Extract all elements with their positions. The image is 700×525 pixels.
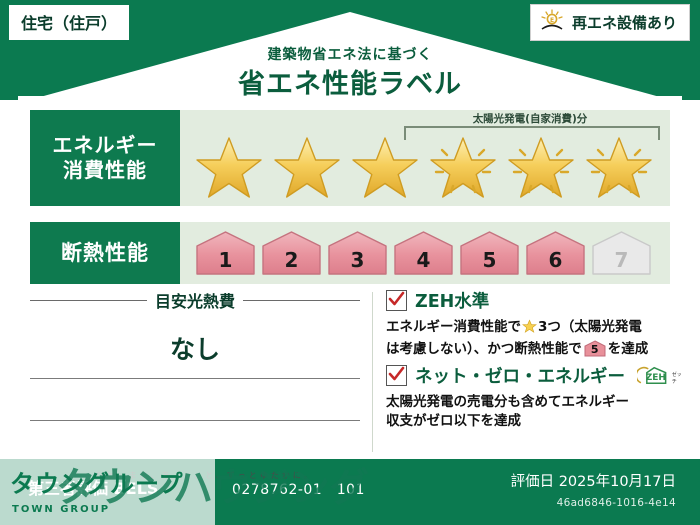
svg-text:ZEH: ZEH bbox=[646, 373, 666, 383]
heading-rule-right bbox=[243, 300, 360, 301]
third-party-evaluation: 第三者評価 BELS bbox=[28, 475, 158, 499]
insulation-level-badge: 1 bbox=[194, 230, 257, 276]
net-zero-description: 太陽光発電の売電分も含めてエネルギー 収支がゼロ以下を達成 bbox=[386, 393, 682, 431]
insulation-level-badge: 7 bbox=[590, 230, 653, 276]
net-zero-title: ネット・ゼロ・エネルギー bbox=[415, 363, 625, 388]
net-zero-desc-2: 収支がゼロ以下を達成 bbox=[386, 413, 521, 429]
star-icon-solar bbox=[504, 130, 578, 200]
insulation-level-value: 1 bbox=[194, 248, 257, 272]
evaluation-date-value: 2025年10月17日 bbox=[559, 474, 676, 490]
insulation-level-badge: 3 bbox=[326, 230, 389, 276]
insulation-level-value: 3 bbox=[326, 248, 389, 272]
house-type-tag: 住宅（住戸） bbox=[8, 4, 130, 41]
solar-bracket-label: 太陽光発電(自家消費)分 bbox=[380, 111, 680, 126]
net-zero-energy-block: ネット・ゼロ・エネルギー ZEH ゼッチ 太陽光発電の売電分も含めてエネルギー … bbox=[386, 363, 682, 431]
insulation-performance-row: 断熱性能 1234567 bbox=[30, 222, 670, 284]
evaluation-code: 0278762-01 101 bbox=[232, 479, 365, 499]
utility-cost-heading: 目安光熱費 bbox=[30, 288, 360, 312]
net-zero-checkbox[interactable] bbox=[386, 365, 407, 386]
zeh-standard-title: ZEH水準 bbox=[415, 288, 489, 313]
net-zero-header: ネット・ゼロ・エネルギー ZEH ゼッチ bbox=[386, 363, 682, 388]
insulation-level-scale: 1234567 bbox=[180, 230, 653, 276]
check-icon bbox=[388, 366, 405, 383]
energy-performance-row: エネルギー 消費性能 太陽光発電(自家消費)分 bbox=[30, 110, 670, 206]
check-icon bbox=[388, 291, 405, 308]
star-icon bbox=[192, 130, 266, 200]
insulation-badge-value: 5 bbox=[584, 342, 606, 358]
insulation-level-badge: 4 bbox=[392, 230, 455, 276]
energy-label-line2: 消費性能 bbox=[63, 158, 147, 183]
zeh-standard-description: エネルギー消費性能で3つ（太陽光発電 は考慮しない）、かつ断熱性能で5を達成 bbox=[386, 318, 682, 359]
insulation-level-value: 6 bbox=[524, 248, 587, 272]
zeh-standard-checkbox[interactable] bbox=[386, 290, 407, 311]
energy-row-body: 太陽光発電(自家消費)分 bbox=[180, 110, 670, 206]
star-rating bbox=[180, 130, 656, 200]
page-title: 省エネ性能ラベル bbox=[0, 62, 700, 101]
energy-label-line1: エネルギー bbox=[53, 133, 158, 158]
zeh-logo-reading: ゼッチ bbox=[672, 371, 684, 387]
label-subtitle: 建築物省エネ法に基づく bbox=[0, 44, 700, 64]
star-icon bbox=[348, 130, 422, 200]
zeh-desc-text-4: を達成 bbox=[608, 341, 649, 357]
star-icon bbox=[522, 319, 537, 340]
energy-row-label: エネルギー 消費性能 bbox=[30, 110, 180, 206]
heading-rule-left bbox=[30, 300, 147, 301]
vertical-divider bbox=[372, 292, 373, 452]
insulation-level-value: 2 bbox=[260, 248, 323, 272]
energy-label-root: 住宅（住戸） E 再エネ設備あり 建築物省エネ法に基づく 省エネ性能ラベル bbox=[0, 0, 700, 525]
insulation-badge-icon: 5 bbox=[584, 340, 606, 357]
utility-cost-value: なし bbox=[30, 330, 360, 366]
zeh-desc-text-3: は考慮しない）、かつ断熱性能で bbox=[386, 341, 582, 357]
insulation-level-badge: 2 bbox=[260, 230, 323, 276]
sun-icon: E bbox=[539, 9, 565, 35]
insulation-level-value: 4 bbox=[392, 248, 455, 272]
star-icon-solar bbox=[582, 130, 656, 200]
insulation-level-value: 5 bbox=[458, 248, 521, 272]
star-icon-solar bbox=[426, 130, 500, 200]
renewable-energy-badge: E 再エネ設備あり bbox=[530, 4, 690, 41]
cost-divider-2 bbox=[30, 420, 360, 421]
zeh-standard-block: ZEH水準 エネルギー消費性能で3つ（太陽光発電 は考慮しない）、かつ断熱性能で… bbox=[386, 288, 682, 359]
star-icon bbox=[270, 130, 344, 200]
evaluation-date-label: 評価日 bbox=[511, 474, 555, 490]
utility-cost-title: 目安光熱費 bbox=[155, 288, 235, 312]
net-zero-desc-1: 太陽光発電の売電分も含めてエネルギー bbox=[386, 394, 629, 410]
evaluation-uuid: 46ad6846-1016-4e14 bbox=[557, 497, 676, 509]
zeh-standard-header: ZEH水準 bbox=[386, 288, 682, 313]
insulation-level-badge: 6 bbox=[524, 230, 587, 276]
insulation-row-label: 断熱性能 bbox=[30, 222, 180, 284]
renewable-badge-label: 再エネ設備あり bbox=[572, 12, 677, 33]
zeh-desc-text-1: エネルギー消費性能で bbox=[386, 319, 521, 335]
zeh-desc-text-2: 3つ（太陽光発電 bbox=[538, 319, 642, 335]
svg-text:E: E bbox=[550, 17, 554, 24]
cost-divider-1 bbox=[30, 378, 360, 379]
insulation-level-badge: 5 bbox=[458, 230, 521, 276]
insulation-row-body: 1234567 bbox=[180, 222, 670, 284]
evaluation-date: 評価日 2025年10月17日 bbox=[511, 470, 676, 491]
zeh-house-logo: ZEH ゼッチ bbox=[637, 364, 684, 387]
insulation-level-value: 7 bbox=[590, 248, 653, 272]
